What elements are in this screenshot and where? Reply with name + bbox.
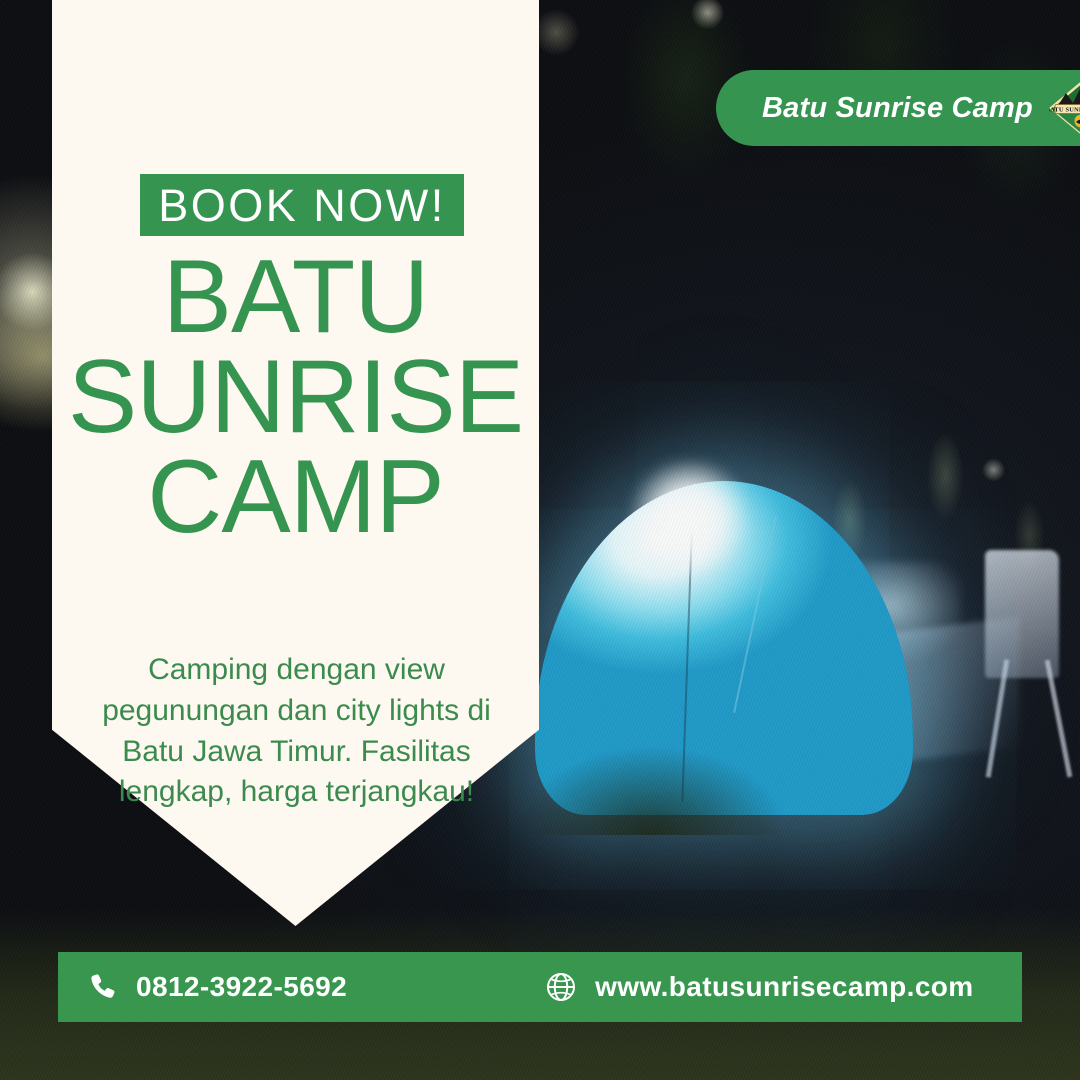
camp-chair [977, 540, 1074, 778]
poster-root: BOOK NOW! BATU SUNRISE CAMP Camping deng… [0, 0, 1080, 1080]
website-contact[interactable]: www.batusunrisecamp.com [545, 971, 973, 1003]
book-now-badge[interactable]: BOOK NOW! [140, 174, 464, 236]
brand-name-label: Batu Sunrise Camp [762, 92, 1033, 125]
headline-line-3: CAMP [52, 448, 539, 548]
page-title: BATU SUNRISE CAMP [52, 248, 539, 547]
website-url: www.batusunrisecamp.com [595, 971, 973, 1003]
phone-number: 0812-3922-5692 [136, 971, 347, 1003]
tent-light-hotspot [625, 461, 754, 575]
brand-pill[interactable]: Batu Sunrise Camp BATU SUNRISE CAMP [716, 70, 1080, 146]
glowing-tent [535, 481, 913, 816]
camp-badge-logo-icon: BATU SUNRISE CAMP [1049, 81, 1080, 135]
chair-leg-right [1045, 659, 1073, 777]
description-text: Camping dengan view pegunungan dan city … [78, 650, 515, 813]
svg-text:BATU SUNRISE CAMP: BATU SUNRISE CAMP [1049, 106, 1080, 113]
footer-contact-bar: 0812-3922-5692 www.batusunrisecamp.com [58, 952, 1022, 1022]
headline-line-1: BATU [52, 248, 539, 348]
globe-icon [545, 971, 577, 1003]
chair-seat [985, 550, 1059, 678]
tent-base-shadow [519, 748, 784, 835]
book-now-label: BOOK NOW! [158, 183, 446, 228]
phone-icon [86, 971, 118, 1003]
phone-contact[interactable]: 0812-3922-5692 [86, 971, 347, 1003]
headline-line-2: SUNRISE [52, 348, 539, 448]
